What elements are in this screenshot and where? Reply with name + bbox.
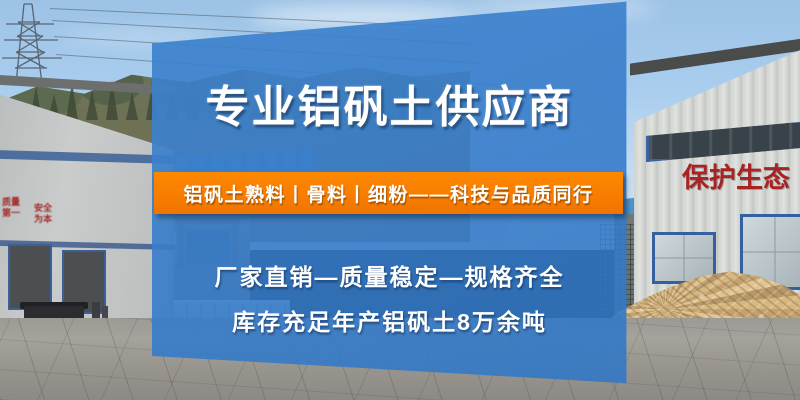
left-sign-char: 安全 xyxy=(34,204,52,213)
banner-headline: 专业铝矾土供应商 xyxy=(153,83,626,134)
ribbon-label: 铝矾土熟料丨骨料丨细粉——科技与品质同行 xyxy=(183,180,593,207)
banner-image: 质量 第一 安全 为本 xyxy=(0,0,800,400)
banner-subline-2: 库存充足年产铝矾土8万余吨 xyxy=(153,303,626,337)
right-building-sign: 保护生态 xyxy=(682,165,790,192)
left-sign-char: 为本 xyxy=(34,215,52,224)
orange-ribbon: 铝矾土熟料丨骨料丨细粉——科技与品质同行 xyxy=(154,172,623,214)
banner-subline-1: 厂家直销—质量稳定—规格齐全 xyxy=(153,258,626,292)
banner-content: 专业铝矾土供应商 铝矾土熟料丨骨料丨细粉——科技与品质同行 厂家直销—质量稳定—… xyxy=(153,0,626,400)
left-sign-char: 质量 xyxy=(2,198,20,207)
left-sign-char: 第一 xyxy=(2,209,20,218)
